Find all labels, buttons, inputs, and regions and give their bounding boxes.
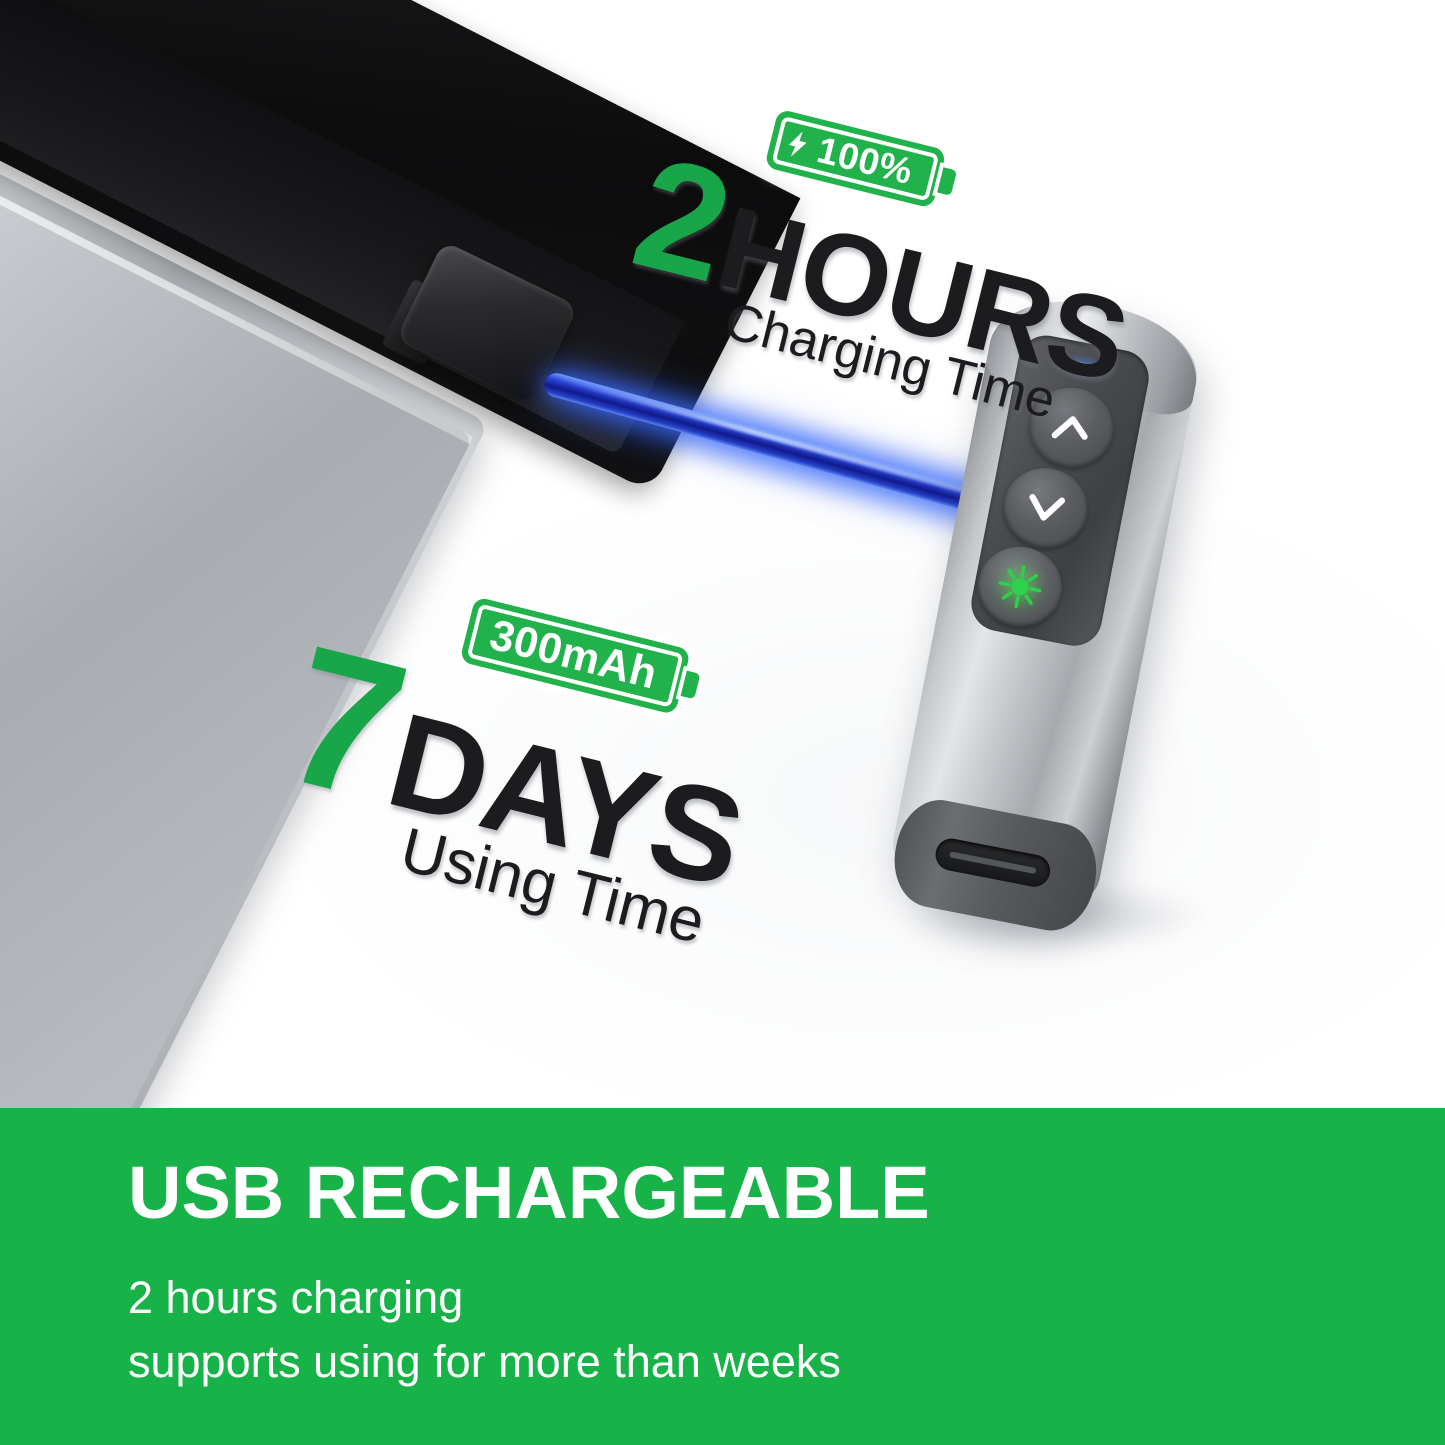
- banner-line-1: 2 hours charging: [128, 1266, 1445, 1330]
- claim-using-time: 300mAh 7 DAYS Using Time: [258, 560, 781, 962]
- laser-sun-icon: [994, 561, 1046, 613]
- banner-title: USB RECHARGEABLE: [128, 1156, 1445, 1230]
- product-photo: ⊲ ı F11 ⊲ )) F12 ⏻ + = delete } ]: [0, 0, 1445, 1108]
- product-feature-image: ⊲ ı F11 ⊲ )) F12 ⏻ + = delete } ]: [0, 0, 1445, 1445]
- feature-banner: USB RECHARGEABLE 2 hours charging suppor…: [0, 1108, 1445, 1445]
- chevron-down-icon: [1022, 489, 1069, 526]
- banner-line-2: supports using for more than weeks: [128, 1330, 1445, 1394]
